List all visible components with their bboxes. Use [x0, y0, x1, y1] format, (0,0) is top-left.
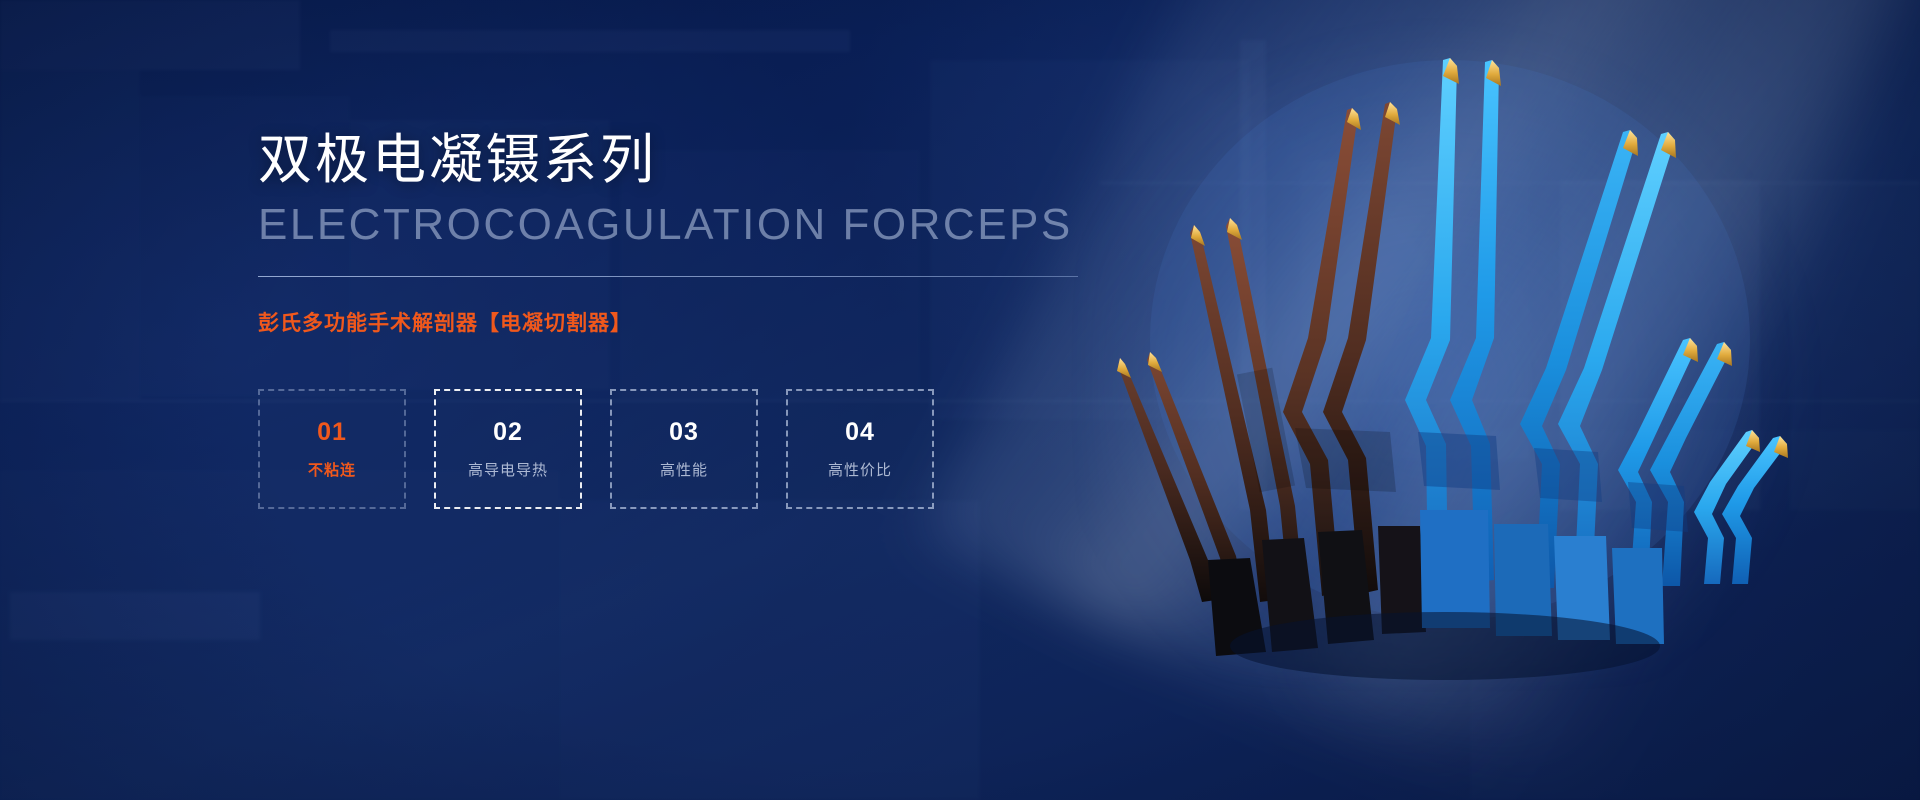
feature-number: 01 — [317, 418, 347, 447]
feature-label: 不粘连 — [308, 459, 356, 480]
banner-content: 双极电凝镊系列 ELECTROCOAGULATION FORCEPS 彭氏多功能… — [258, 130, 1098, 509]
feature-label: 高导电导热 — [468, 459, 548, 480]
feature-label: 高性能 — [660, 459, 708, 480]
product-subtitle: 彭氏多功能手术解剖器【电凝切割器】 — [258, 307, 1098, 337]
feature-label: 高性价比 — [828, 459, 892, 480]
title-divider — [258, 276, 1078, 277]
feature-card-02[interactable]: 02 高导电导热 — [434, 389, 582, 509]
feature-list: 01 不粘连 02 高导电导热 03 高性能 04 高性价比 — [258, 389, 1098, 509]
product-banner: 双极电凝镊系列 ELECTROCOAGULATION FORCEPS 彭氏多功能… — [0, 0, 1920, 800]
page-title-cn: 双极电凝镊系列 — [258, 130, 1098, 190]
feature-number: 02 — [493, 418, 523, 447]
feature-card-03[interactable]: 03 高性能 — [610, 389, 758, 509]
feature-number: 03 — [669, 418, 699, 447]
feature-card-01[interactable]: 01 不粘连 — [258, 389, 406, 509]
feature-card-04[interactable]: 04 高性价比 — [786, 389, 934, 509]
feature-number: 04 — [845, 418, 875, 447]
product-image-forceps — [1090, 40, 1830, 680]
page-title-en: ELECTROCOAGULATION FORCEPS — [258, 200, 1098, 250]
